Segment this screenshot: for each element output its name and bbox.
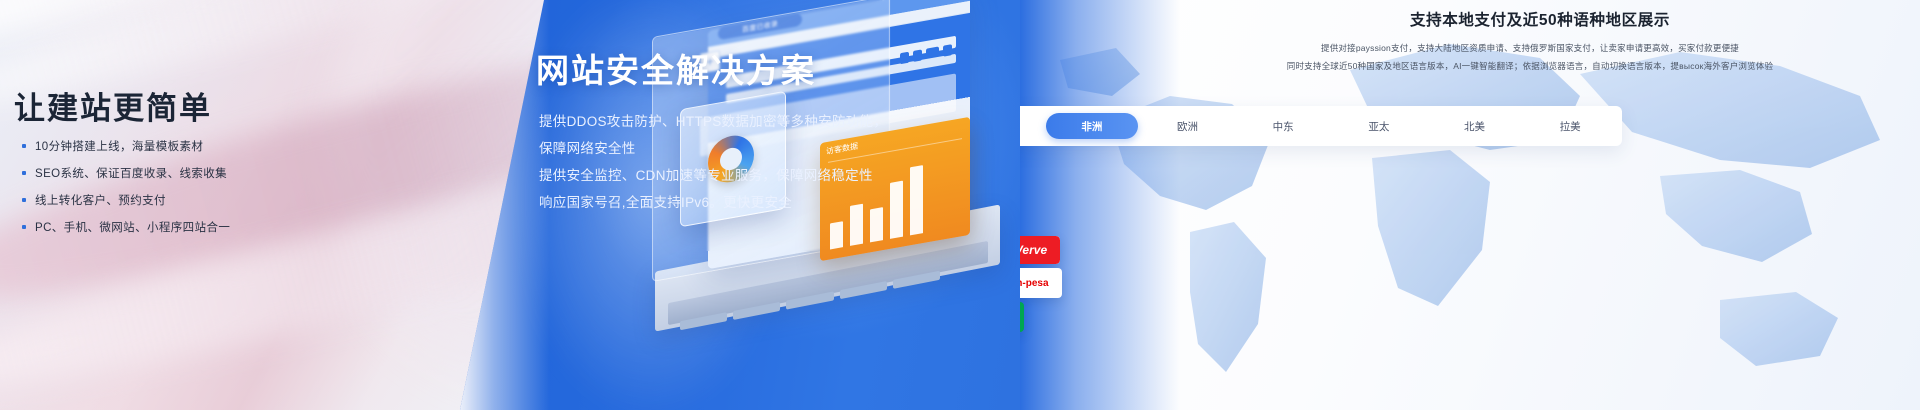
verve-logo: Verve	[1020, 236, 1060, 264]
description-line: 响应国家号召,全面支持IPv6。更快更安全	[539, 189, 959, 216]
phone-icon	[900, 52, 909, 65]
tigo-cash-logo: tigo cash	[1020, 302, 1024, 332]
description-line: 提供DDOS攻击防护、HTTPS数据加密等多种安防功能，	[539, 108, 959, 135]
description-line: 保障网络安全性	[539, 135, 959, 162]
description-line: 提供安全监控、CDN加速等专业服务，保障网络稳定性	[539, 162, 959, 189]
banner-stage: 让建站更简单 10分钟搭建上线，海量模板素材 SEO系统、保证百度收录、线索收集…	[0, 0, 1920, 410]
tab-region-middle-east[interactable]: 中东	[1237, 113, 1329, 139]
right-panel-title: 支持本地支付及近50种语种地区展示	[1020, 8, 1920, 30]
tab-region-latin-america[interactable]: 拉美	[1524, 113, 1616, 139]
left-panel-title: 让建站更简单	[14, 83, 212, 128]
tab-region-north-america[interactable]: 北美	[1429, 113, 1521, 139]
center-panel-description: 提供DDOS攻击防护、HTTPS数据加密等多种安防功能， 保障网络安全性 提供安…	[539, 108, 959, 216]
list-item: PC、手机、微网站、小程序四站合一	[22, 213, 230, 240]
list-item-label: 线上转化客户、预约支付	[35, 192, 166, 208]
bar	[830, 221, 843, 249]
tab-region-europe[interactable]: 欧洲	[1142, 113, 1234, 139]
list-item: 10分钟搭建上线，海量模板素材	[22, 132, 230, 159]
center-security-panel: 百度已收录 + 访客数据	[460, 0, 1020, 410]
verve-label: Verve	[1020, 236, 1060, 264]
monitor-icon	[926, 46, 939, 58]
payssion-logo-icon: PAYSSION	[1020, 114, 1033, 138]
list-item-label: SEO系统、保证百度收录、线索收集	[35, 165, 227, 181]
mobile-site-icon	[943, 44, 952, 57]
region-tab-list: 非洲 欧洲 中东 亚太 北美 拉美	[1046, 113, 1622, 139]
right-payment-panel: 支持本地支付及近50种语种地区展示 提供对接payssion支付，支持大陆地区资…	[1020, 0, 1920, 410]
mpesa-logo: m-pesa	[1020, 268, 1062, 298]
bullet-dot-icon	[22, 225, 26, 229]
payment-logos-cluster: VISA Verve orange airtel money m-pesa MT…	[1020, 190, 1160, 410]
payssion-logo: PAYSSION	[1020, 114, 1046, 138]
tab-region-africa[interactable]: 非洲	[1046, 113, 1138, 139]
tablet-icon	[913, 49, 922, 62]
bullet-dot-icon	[22, 198, 26, 202]
tab-region-asia-pacific[interactable]: 亚太	[1333, 113, 1425, 139]
bullet-dot-icon	[22, 171, 26, 175]
list-item-label: PC、手机、微网站、小程序四站合一	[35, 219, 230, 235]
list-item: SEO系统、保证百度收录、线索收集	[22, 159, 230, 186]
bullet-dot-icon	[22, 144, 26, 148]
right-panel-subtitle-line-2: 同时支持全球近50种国家及地区语言版本，AI一键智能翻译；依据浏览器语言，自动切…	[1020, 60, 1920, 72]
left-panel-feature-list: 10分钟搭建上线，海量模板素材 SEO系统、保证百度收录、线索收集 线上转化客户…	[22, 132, 230, 240]
center-panel-title: 网站安全解决方案	[536, 44, 816, 92]
mpesa-label: m-pesa	[1020, 278, 1049, 289]
list-item: 线上转化客户、预约支付	[22, 186, 230, 213]
list-item-label: 10分钟搭建上线，海量模板素材	[35, 138, 203, 154]
right-panel-subtitle-line-1: 提供对接payssion支付，支持大陆地区资质申请、支持俄罗斯国家支付，让卖家申…	[1020, 42, 1920, 54]
region-selector-card: PAYSSION 非洲 欧洲 中东 亚太 北美 拉美	[1020, 106, 1622, 146]
